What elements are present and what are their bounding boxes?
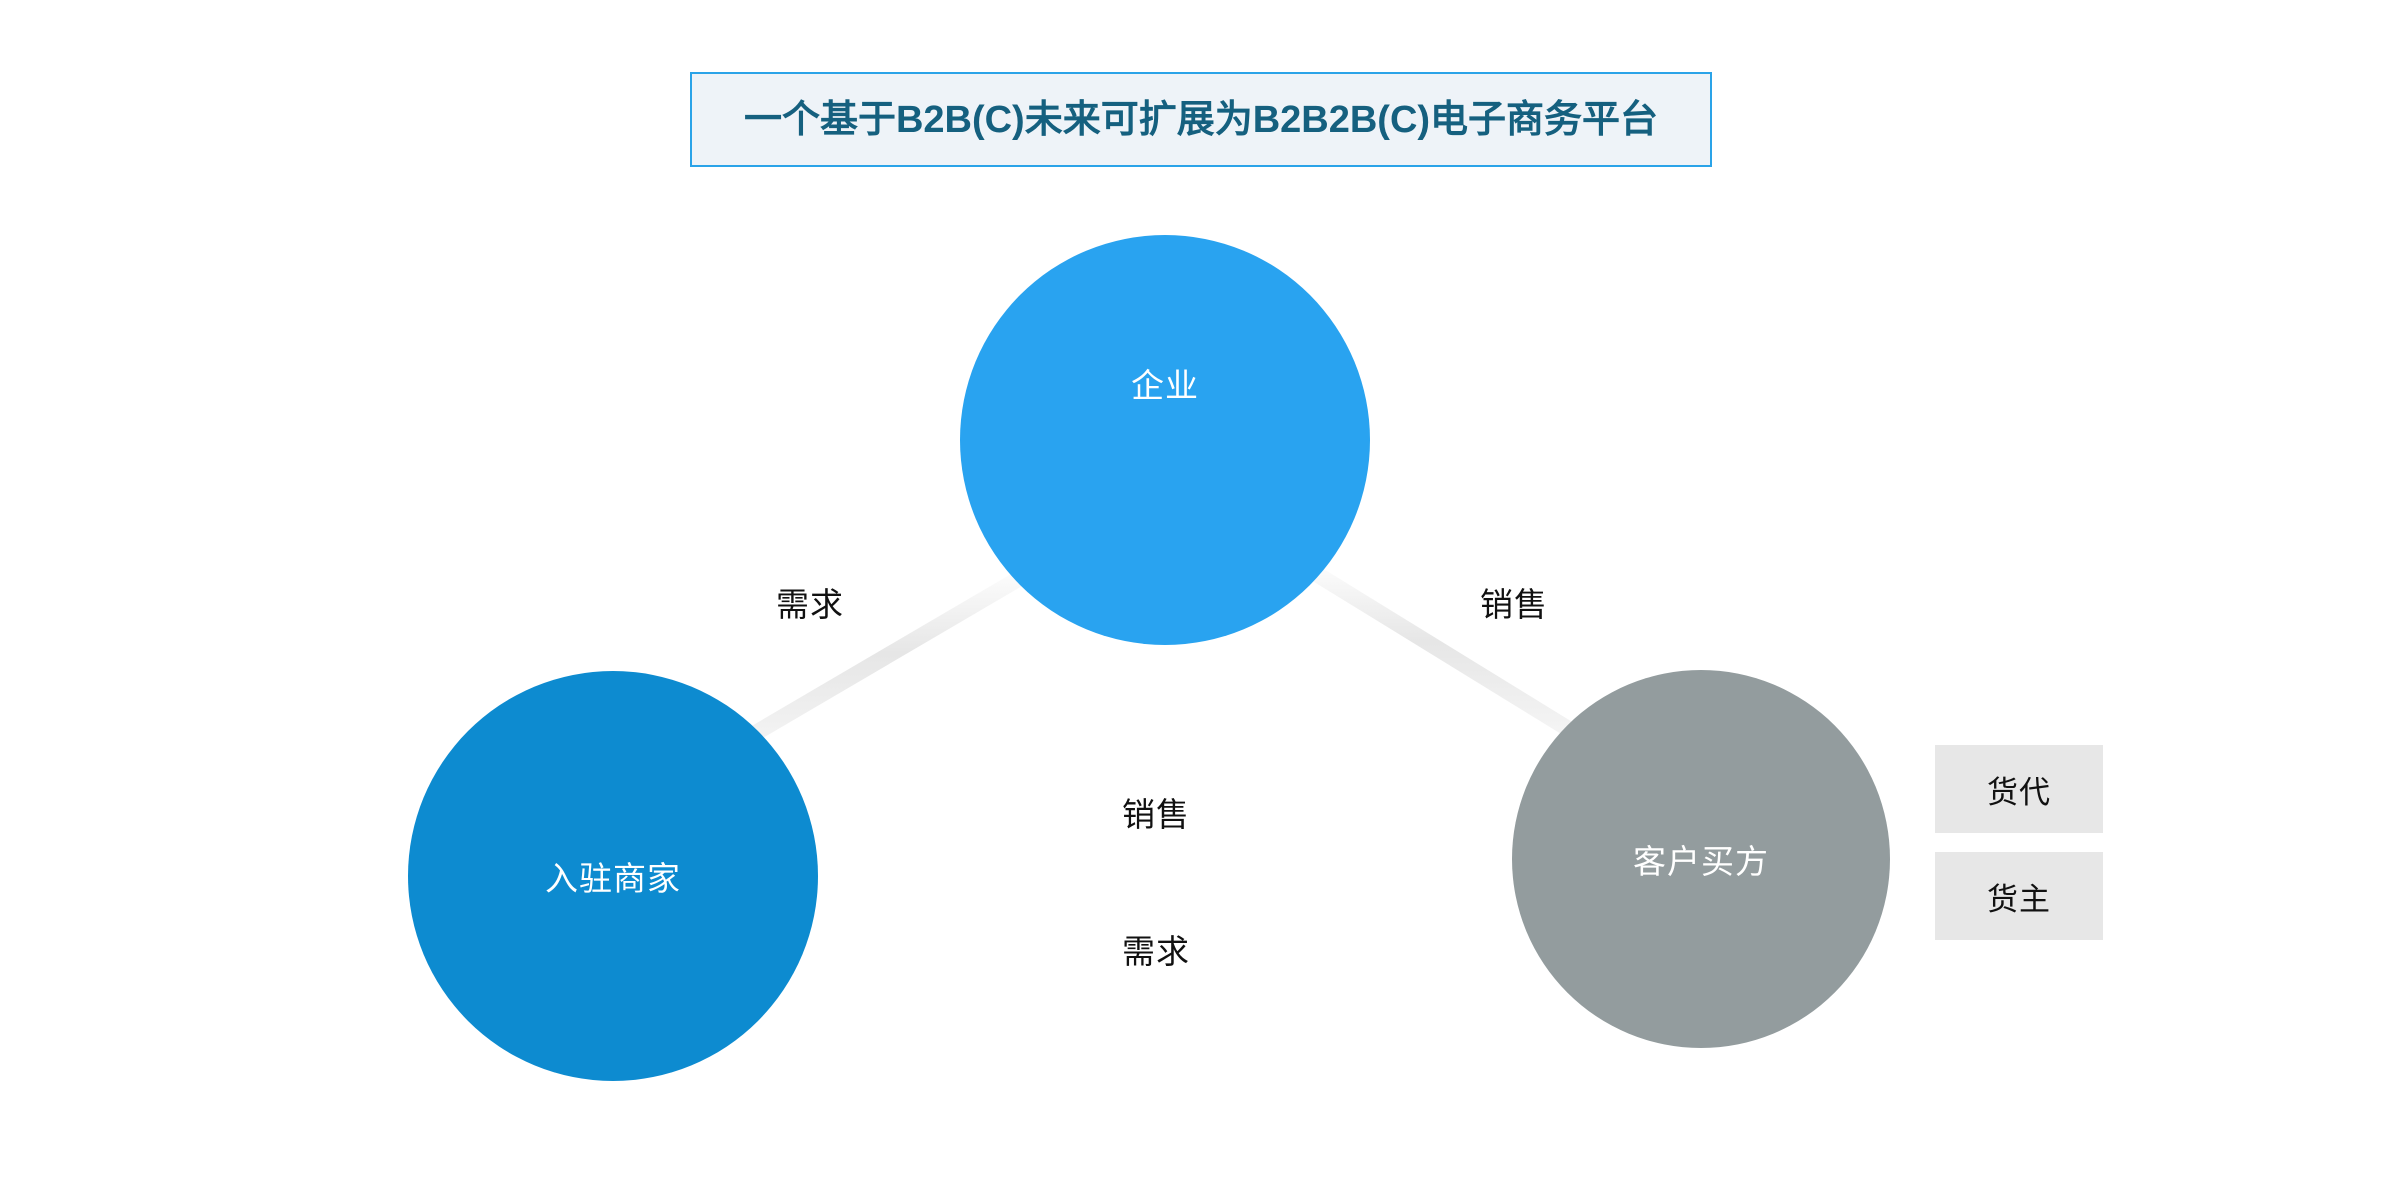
- node-buyer[interactable]: 客户买方: [1512, 670, 1890, 1048]
- node-buyer-label: 客户买方: [1633, 835, 1769, 883]
- page-title: 一个基于B2B(C)未来可扩展为B2B2B(C)电子商务平台: [744, 101, 1658, 139]
- node-enterprise-label: 企业: [1131, 359, 1199, 407]
- node-enterprise[interactable]: 企业: [960, 235, 1370, 645]
- title-banner: 一个基于B2B(C)未来可扩展为B2B2B(C)电子商务平台: [690, 72, 1712, 167]
- role-box-cargo-owner[interactable]: 货主: [1935, 852, 2103, 940]
- edge-label-merchant-to-buyer-demand: 需求: [1122, 925, 1190, 973]
- node-merchant[interactable]: 入驻商家: [408, 671, 818, 1081]
- edge-label-merchant-to-enterprise: 需求: [776, 578, 844, 626]
- role-box-cargo-owner-label: 货主: [1987, 874, 2051, 919]
- edge-label-enterprise-to-buyer: 销售: [1480, 578, 1548, 626]
- diagram-canvas: 一个基于B2B(C)未来可扩展为B2B2B(C)电子商务平台: [0, 0, 2400, 1196]
- node-merchant-label: 入驻商家: [545, 852, 681, 900]
- role-box-freight-forwarder-label: 货代: [1987, 767, 2051, 812]
- edge-label-merchant-to-buyer-sales: 销售: [1122, 788, 1190, 836]
- role-box-freight-forwarder[interactable]: 货代: [1935, 745, 2103, 833]
